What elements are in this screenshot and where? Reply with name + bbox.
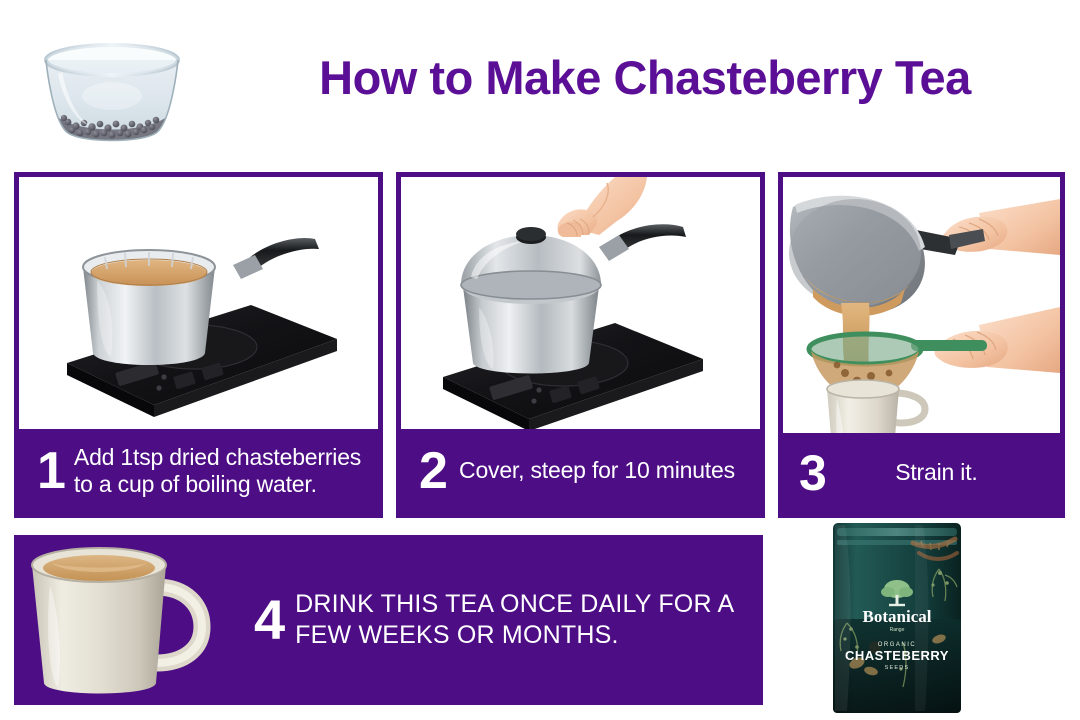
- step-3-caption: Strain it.: [835, 459, 1060, 486]
- step-3-illustration: [783, 177, 1060, 439]
- step-1-caption-bar: 1 Add 1tsp dried chasteberries to a cup …: [19, 429, 378, 513]
- step-panel-2: 2 Cover, steep for 10 minutes: [396, 172, 765, 518]
- pot-lid: [461, 227, 601, 299]
- step-1-caption: Add 1tsp dried chasteberries to a cup of…: [74, 444, 378, 498]
- infographic-page: How to Make Chasteberry Tea: [0, 0, 1080, 720]
- product-type: SEEDS: [885, 665, 910, 671]
- glass-bowl-icon: [38, 38, 186, 146]
- step-1-number: 1: [19, 445, 74, 497]
- step-panel-1: 1 Add 1tsp dried chasteberries to a cup …: [14, 172, 383, 518]
- step-panel-3: 3 Strain it.: [778, 172, 1065, 518]
- step-3-number: 3: [783, 448, 835, 498]
- step-2-number: 2: [401, 445, 456, 497]
- tilted-saucepan: [789, 196, 985, 316]
- step-2-caption: Cover, steep for 10 minutes: [456, 457, 760, 484]
- product-package: Botanical Range ORGANIC CHASTEBERRY SEED…: [827, 519, 967, 715]
- step-4-number: 4: [224, 592, 295, 648]
- page-title: How to Make Chasteberry Tea: [250, 52, 1040, 104]
- step-4-illustration: [14, 535, 224, 705]
- brand-subtitle: Range: [890, 627, 905, 633]
- step-1-illustration: [19, 177, 378, 439]
- step-2-caption-bar: 2 Cover, steep for 10 minutes: [401, 429, 760, 513]
- product-name: CHASTEBERRY: [845, 648, 949, 663]
- step-panel-4: 4 DRINK THIS TEA ONCE DAILY FOR A FEW WE…: [14, 535, 763, 705]
- header: How to Make Chasteberry Tea: [0, 0, 1080, 160]
- hand-icon: [557, 177, 647, 237]
- step-2-illustration: [401, 177, 760, 439]
- step-3-caption-bar: 3 Strain it.: [783, 433, 1060, 513]
- step-4-caption: DRINK THIS TEA ONCE DAILY FOR A FEW WEEK…: [295, 589, 763, 652]
